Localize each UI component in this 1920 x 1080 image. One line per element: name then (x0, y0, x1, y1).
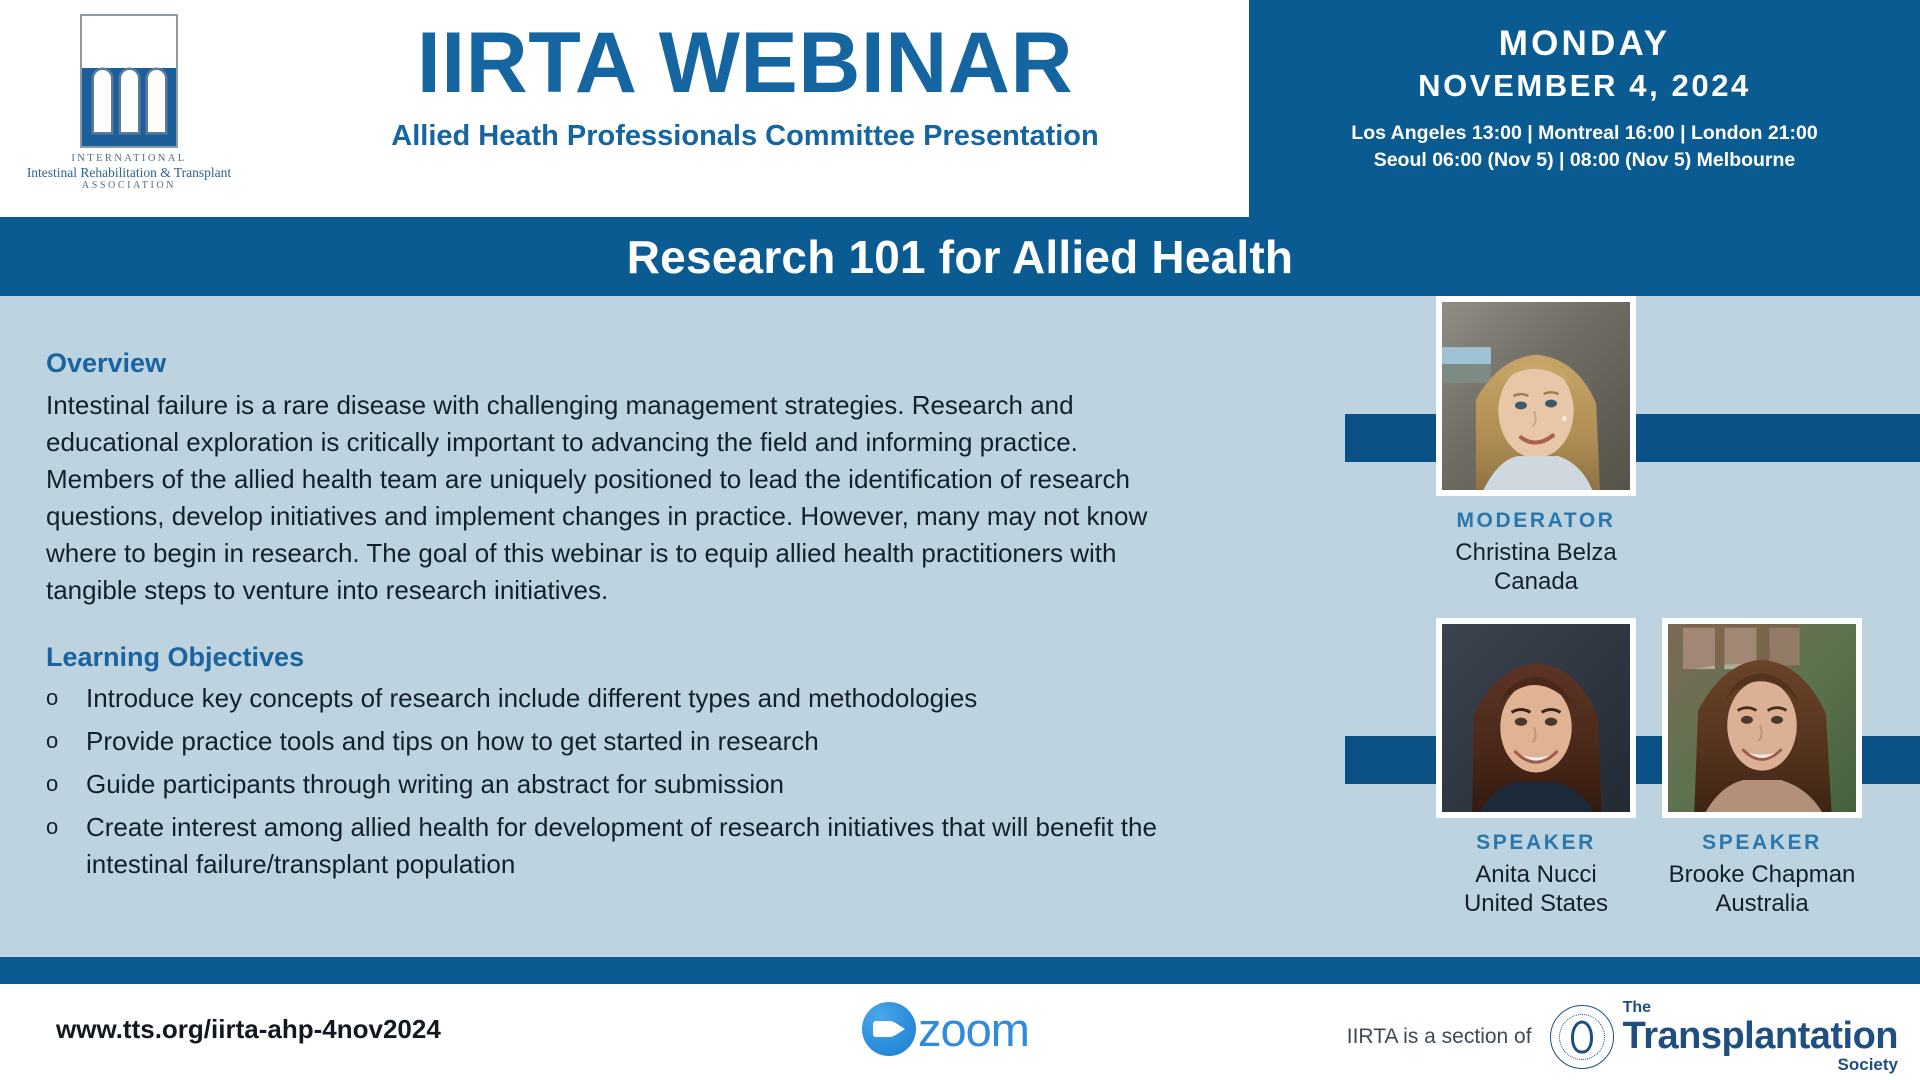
date-time-block: MONDAY NOVEMBER 4, 2024 Los Angeles 13:0… (1249, 0, 1920, 217)
logo-line-association-name: Intestinal Rehabilitation & Transplant (14, 165, 244, 180)
person-role: SPEAKER (1436, 831, 1636, 855)
timezone-line-2: Seoul 06:00 (Nov 5) | 08:00 (Nov 5) Melb… (1249, 147, 1920, 174)
bullet-marker: o (46, 766, 86, 803)
photo-frame (1436, 618, 1636, 818)
date-full: NOVEMBER 4, 2024 (1249, 68, 1920, 104)
webinar-poster: INTERNATIONAL Intestinal Rehabilitation … (0, 0, 1920, 1080)
speaker-photo-brooke-chapman (1668, 624, 1856, 812)
people-column: MODERATOR Christina Belza Canada (1300, 296, 1920, 957)
person-name: Anita Nucci (1436, 860, 1636, 889)
moderator-photo-christina-belza (1442, 302, 1630, 490)
content-column: Overview Intestinal failure is a rare di… (46, 348, 1181, 889)
list-item: o Create interest among allied health fo… (46, 809, 1181, 883)
tts-the: The (1623, 1000, 1898, 1016)
transplantation-society-seal-icon (1550, 1005, 1614, 1069)
person-card-speaker-2: SPEAKER Brooke Chapman Australia (1662, 618, 1862, 919)
intestinal-villi-logo-icon (80, 14, 178, 148)
overview-heading: Overview (46, 348, 1181, 379)
poster-body: Overview Intestinal failure is a rare di… (0, 296, 1920, 957)
zoom-wordmark: zoom (918, 1006, 1029, 1053)
person-name: Brooke Chapman (1662, 860, 1862, 889)
bullet-marker: o (46, 809, 86, 883)
objectives-heading: Learning Objectives (46, 642, 1181, 673)
photo-frame (1662, 618, 1862, 818)
tts-society: Society (1623, 1056, 1898, 1073)
logo-line-international: INTERNATIONAL (14, 153, 244, 165)
photo-frame (1436, 296, 1636, 496)
video-camera-icon (862, 1002, 916, 1056)
person-role: MODERATOR (1436, 509, 1636, 533)
person-country: Australia (1662, 889, 1862, 918)
objective-text: Provide practice tools and tips on how t… (86, 723, 1181, 760)
objectives-list: o Introduce key concepts of research inc… (46, 680, 1181, 883)
list-item: o Provide practice tools and tips on how… (46, 723, 1181, 760)
list-item: o Guide participants through writing an … (46, 766, 1181, 803)
speaker-photo-anita-nucci (1442, 624, 1630, 812)
wordmark-title: IIRTA WEBINAR (250, 18, 1240, 108)
bullet-marker: o (46, 680, 86, 717)
webinar-wordmark: IIRTA WEBINAR Allied Heath Professionals… (250, 18, 1240, 153)
tts-pretext: IIRTA is a section of (1347, 1025, 1532, 1049)
title-bar: Research 101 for Allied Health (0, 217, 1920, 296)
zoom-logo: zoom (862, 1002, 1029, 1056)
footer-divider (0, 957, 1920, 984)
registration-url[interactable]: www.tts.org/iirta-ahp-4nov2024 (56, 1014, 441, 1045)
transplantation-society-logo: IIRTA is a section of The Transplantatio… (1347, 1000, 1898, 1073)
timezone-line-1: Los Angeles 13:00 | Montreal 16:00 | Lon… (1249, 120, 1920, 147)
person-name: Christina Belza (1436, 538, 1636, 567)
bullet-marker: o (46, 723, 86, 760)
tts-main: Transplantation (1623, 1017, 1898, 1055)
objective-text: Create interest among allied health for … (86, 809, 1181, 883)
timezone-list: Los Angeles 13:00 | Montreal 16:00 | Lon… (1249, 120, 1920, 174)
person-card-moderator: MODERATOR Christina Belza Canada (1436, 296, 1636, 597)
page-title: Research 101 for Allied Health (0, 230, 1920, 284)
date-day: MONDAY (1249, 24, 1920, 64)
overview-paragraph: Intestinal failure is a rare disease wit… (46, 387, 1181, 608)
objective-text: Introduce key concepts of research inclu… (86, 680, 1181, 717)
list-item: o Introduce key concepts of research inc… (46, 680, 1181, 717)
logo-line-association: ASSOCIATION (14, 180, 244, 191)
person-role: SPEAKER (1662, 831, 1862, 855)
poster-header: INTERNATIONAL Intestinal Rehabilitation … (0, 0, 1920, 217)
objective-text: Guide participants through writing an ab… (86, 766, 1181, 803)
person-card-speaker-1: SPEAKER Anita Nucci United States (1436, 618, 1636, 919)
poster-footer: www.tts.org/iirta-ahp-4nov2024 zoom IIRT… (0, 984, 1920, 1080)
wordmark-subtitle: Allied Heath Professionals Committee Pre… (250, 120, 1240, 153)
iirta-logo: INTERNATIONAL Intestinal Rehabilitation … (14, 14, 244, 202)
person-country: Canada (1436, 567, 1636, 596)
person-country: United States (1436, 889, 1636, 918)
